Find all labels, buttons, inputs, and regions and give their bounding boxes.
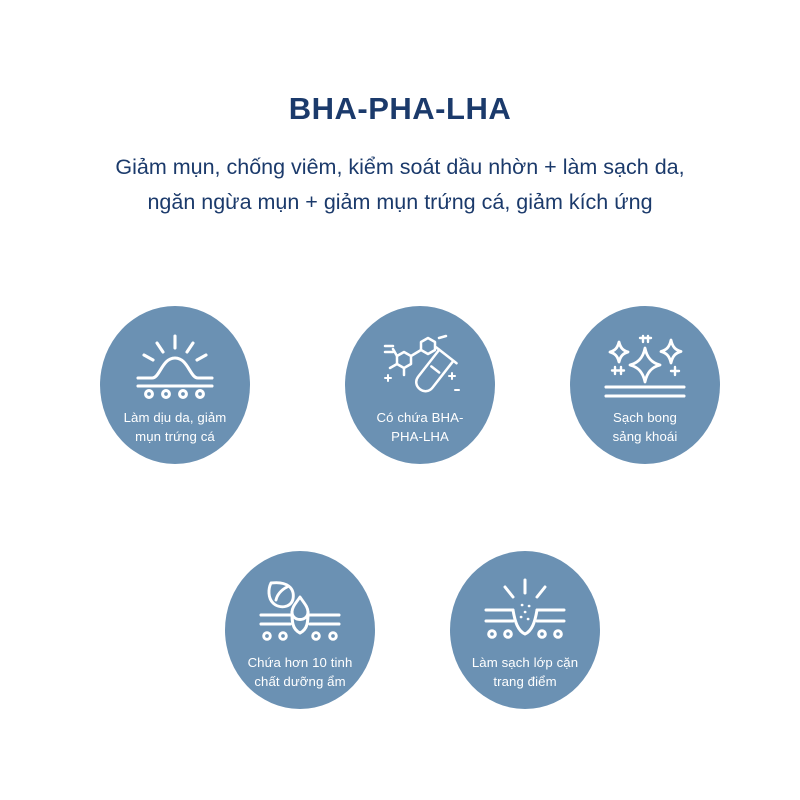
page-title: BHA-PHA-LHA xyxy=(0,92,800,126)
header: BHA-PHA-LHA Giảm mụn, chống viêm, kiểm s… xyxy=(0,92,800,220)
sparkle-clean-skin-icon xyxy=(602,334,688,398)
skin-bump-rays-icon xyxy=(132,334,218,398)
benefit-circle-contains-acids: Có chứa BHA- PHA-LHA xyxy=(345,306,495,464)
benefit-caption: Sạch bong sảng khoái xyxy=(583,409,707,446)
benefit-circle-clean-refreshed: Sạch bong sảng khoái xyxy=(570,306,720,464)
caption-line-2: sảng khoái xyxy=(613,429,678,444)
caption-line-1: Chứa hơn 10 tinh xyxy=(248,655,353,670)
leaf-droplet-skin-icon xyxy=(257,579,343,643)
benefit-circle-soothe-skin: Làm dịu da, giảm mụn trứng cá xyxy=(100,306,250,464)
benefit-caption: Chứa hơn 10 tinh chất dưỡng ẩm xyxy=(238,654,362,691)
benefit-circle-moisturizing-essences: Chứa hơn 10 tinh chất dưỡng ẩm xyxy=(225,551,375,709)
caption-line-2: chất dưỡng ẩm xyxy=(254,674,345,689)
caption-line-2: trang điểm xyxy=(493,674,556,689)
caption-line-1: Sạch bong xyxy=(613,410,677,425)
caption-line-1: Có chứa BHA- xyxy=(377,410,464,425)
subtitle-line-2: ngăn ngừa mụn + giảm mụn trứng cá, giảm … xyxy=(0,185,800,220)
page-subtitle: Giảm mụn, chống viêm, kiểm soát dầu nhờn… xyxy=(0,126,800,220)
benefit-caption: Làm sạch lớp cặn trang điểm xyxy=(463,654,587,691)
deep-pore-cleanse-icon xyxy=(482,579,568,643)
benefit-caption: Làm dịu da, giảm mụn trứng cá xyxy=(113,409,237,446)
benefit-circle-remove-makeup-residue: Làm sạch lớp cặn trang điểm xyxy=(450,551,600,709)
benefit-caption: Có chứa BHA- PHA-LHA xyxy=(358,409,482,446)
molecule-test-tube-icon xyxy=(377,334,463,398)
infographic-page: BHA-PHA-LHA Giảm mụn, chống viêm, kiểm s… xyxy=(0,0,800,800)
subtitle-line-1: Giảm mụn, chống viêm, kiểm soát dầu nhờn… xyxy=(0,150,800,185)
caption-line-1: Làm sạch lớp cặn xyxy=(472,655,578,670)
caption-line-1: Làm dịu da, giảm xyxy=(124,410,227,425)
caption-line-2: mụn trứng cá xyxy=(135,429,215,444)
caption-line-2: PHA-LHA xyxy=(391,429,449,444)
